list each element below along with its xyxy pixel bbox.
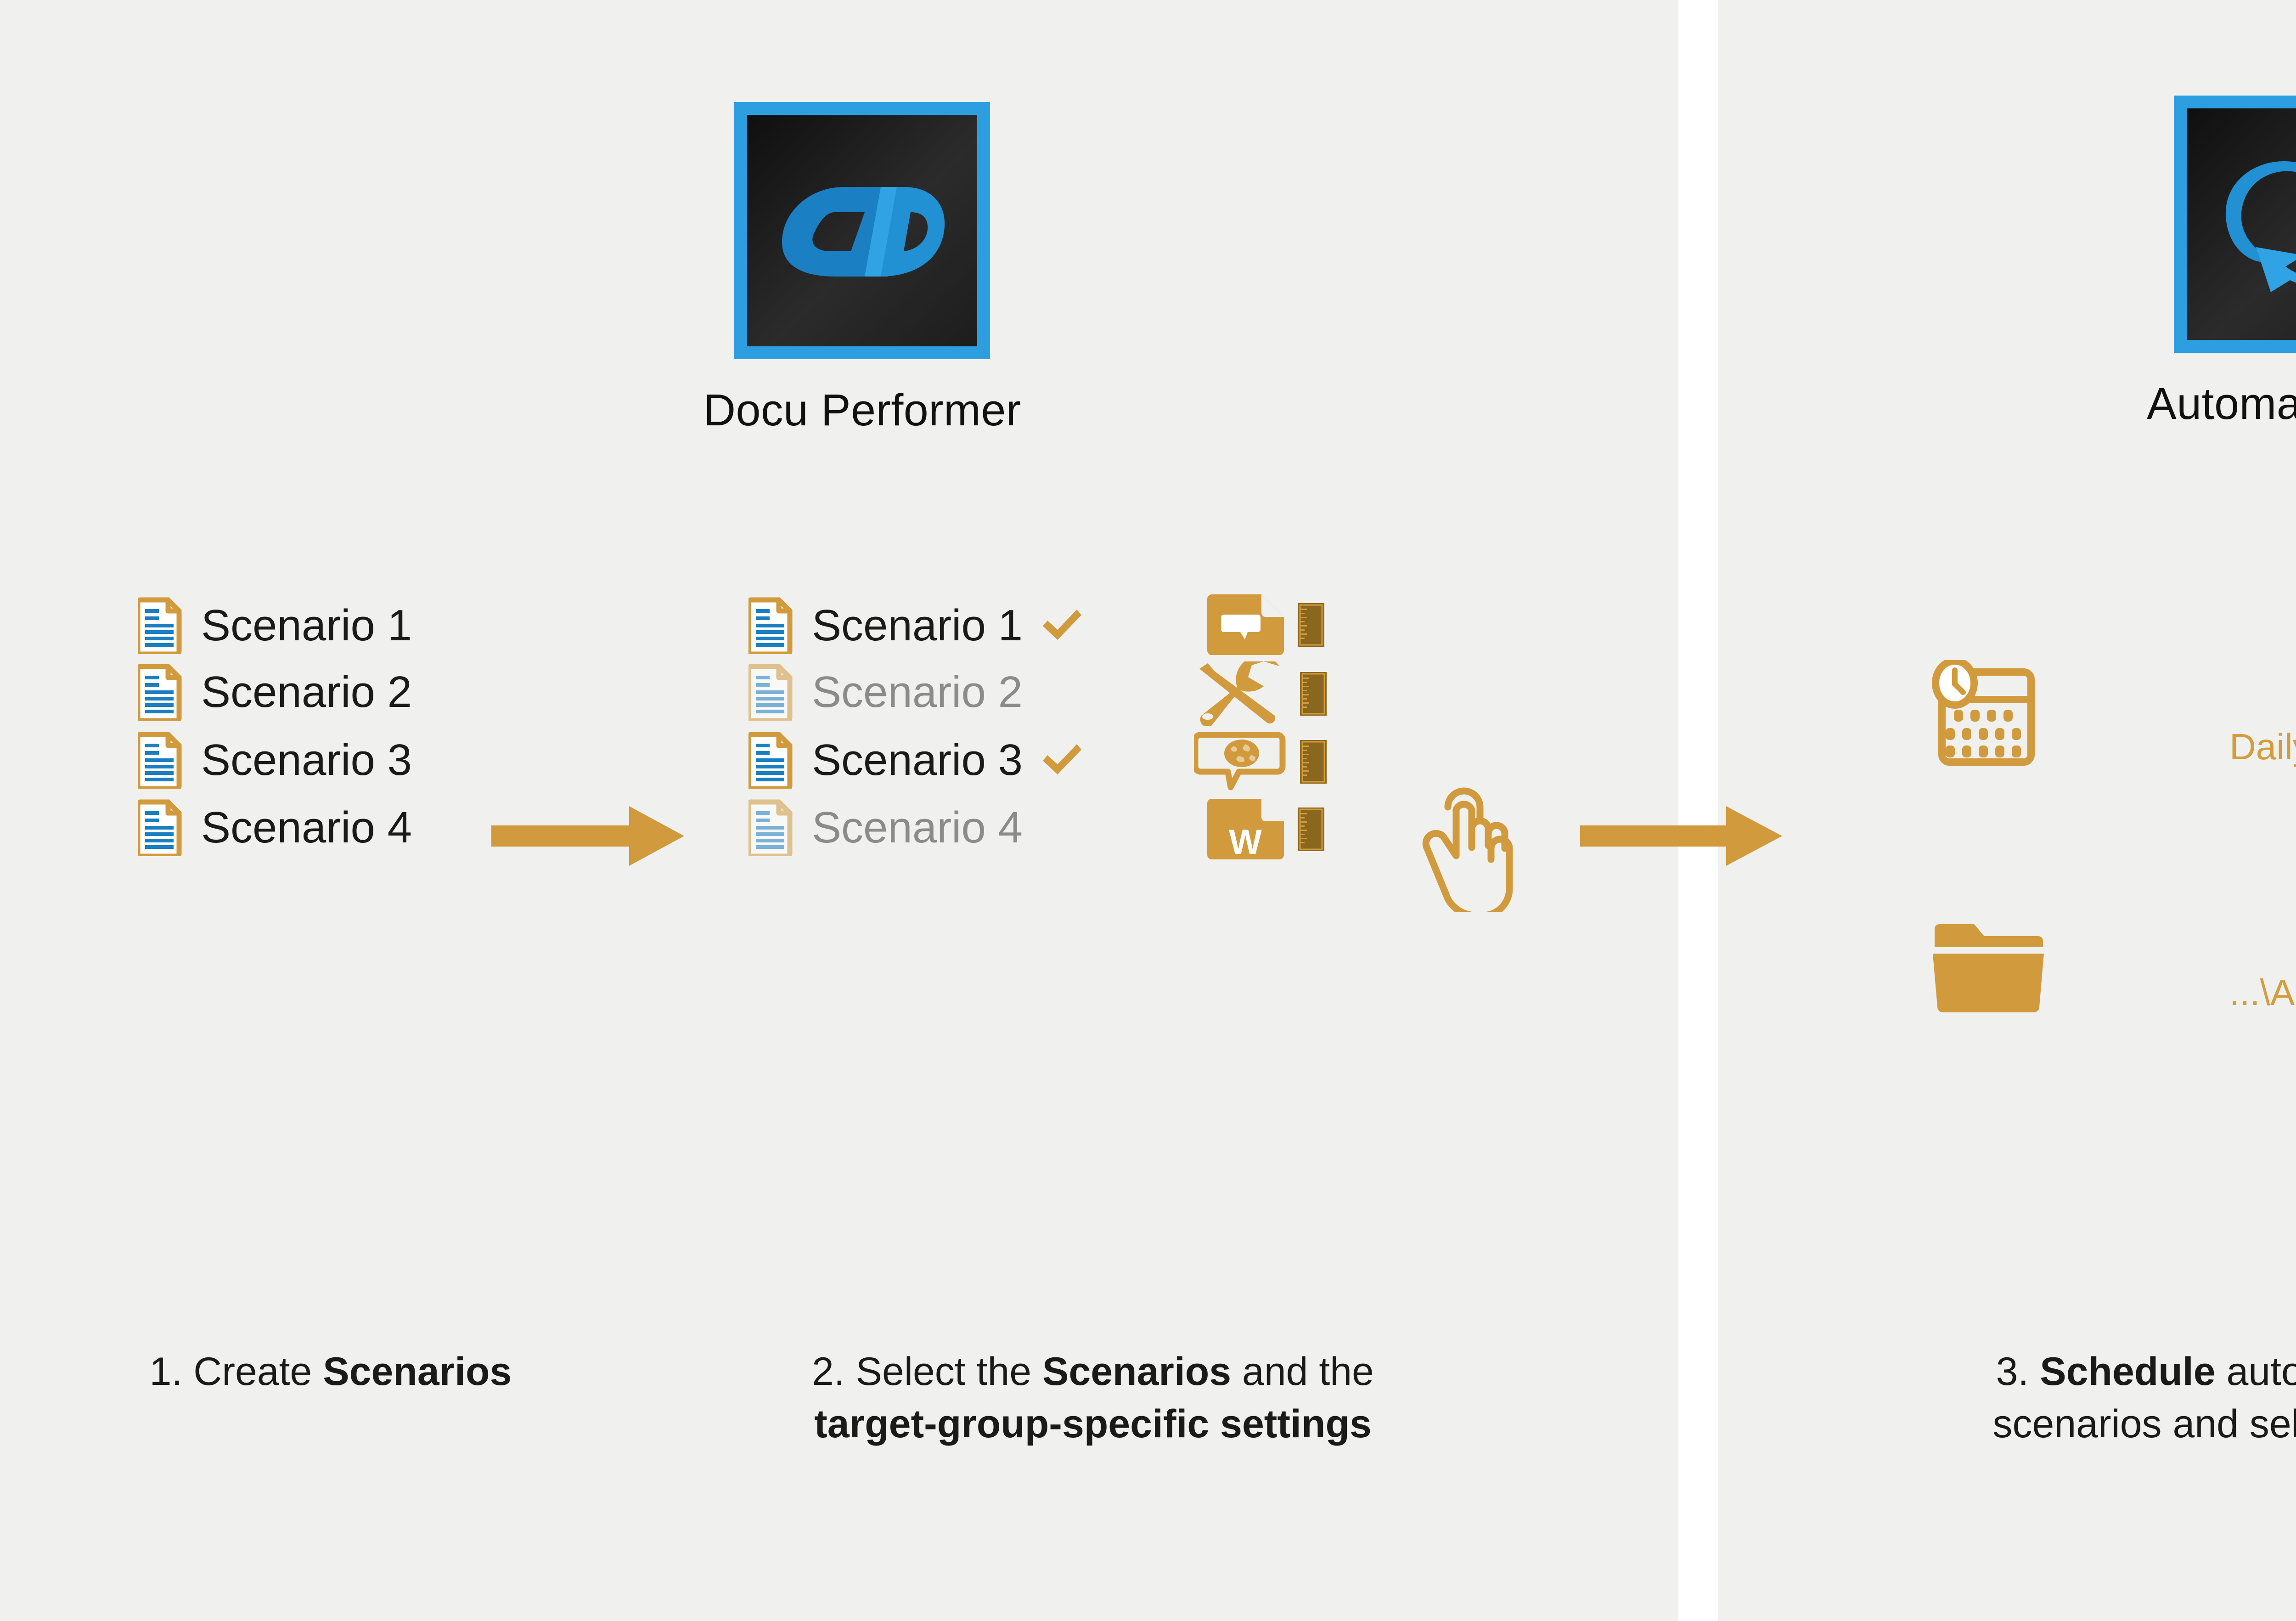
caption-2-prefix: 2. Select the	[812, 1350, 1042, 1394]
list-item[interactable]: Scenario 3	[138, 732, 412, 789]
document-comment-icon	[1205, 593, 1286, 657]
list-item[interactable]: Scenario 1	[748, 597, 1084, 654]
caption-3-prefix: 3.	[1996, 1350, 2040, 1394]
app-header-docu-performer: Docu Performer	[703, 102, 1021, 436]
tools-wrench-screwdriver-icon	[1194, 661, 1288, 726]
pointing-hand-click-icon[interactable]	[1420, 760, 1540, 912]
step-caption-3: 3. Schedule automated export of scenario…	[1864, 1346, 2296, 1450]
app-header-automationtool: AutomationTool	[2147, 96, 2296, 429]
word-document-icon: W	[1205, 797, 1286, 861]
file-path-value: ...\Automated Scenarios	[2229, 971, 2296, 1014]
globe-speech-bubble-icon	[1194, 729, 1288, 794]
document-icon	[138, 799, 182, 856]
caption-2-line2: target-group-specific settings	[814, 1402, 1372, 1446]
ruler-icon	[1300, 672, 1327, 716]
folder-icon	[1931, 919, 2046, 1015]
list-item[interactable]: Scenario 1	[138, 597, 412, 654]
caption-2-suffix: and the	[1231, 1350, 1374, 1394]
automation-sync-arrows-logo-icon	[2174, 96, 2296, 353]
ruler-icon	[1298, 808, 1324, 851]
list-item-label: Scenario 1	[812, 600, 1023, 651]
ruler-icon	[1298, 603, 1324, 647]
caption-3-line2-prefix: scenarios and select the	[1992, 1402, 2296, 1446]
list-item-label: Scenario 4	[201, 802, 412, 853]
diagram-canvas: Docu Performer Scenario 1 Scenario 2	[0, 0, 2296, 1621]
document-icon	[138, 732, 182, 789]
caption-3-suffix: automated export of	[2216, 1350, 2296, 1394]
calendar-clock-icon	[1931, 660, 2043, 770]
docu-performer-logo-icon	[734, 102, 990, 359]
checkmark-icon	[1040, 741, 1084, 779]
list-item-label: Scenario 1	[201, 600, 412, 651]
document-icon-muted	[748, 664, 793, 721]
list-item[interactable]: Scenario 4	[748, 799, 1023, 856]
settings-row[interactable]: W	[1205, 797, 1324, 861]
caption-2-emphasis: Scenarios	[1042, 1350, 1231, 1394]
caption-1-prefix: 1. Create	[150, 1350, 323, 1394]
sync-arrows-icon	[2210, 132, 2296, 316]
app-name-label: AutomationTool	[2147, 378, 2296, 429]
list-item[interactable]: Scenario 2	[748, 664, 1023, 721]
document-icon-muted	[748, 799, 793, 856]
list-item[interactable]: Scenario 4	[138, 799, 412, 856]
list-item-label: Scenario 3	[201, 735, 412, 785]
list-item[interactable]: Scenario 3	[748, 732, 1084, 789]
ruler-icon	[1300, 740, 1327, 784]
dp-monogram-icon	[766, 162, 959, 299]
document-icon	[748, 732, 793, 789]
list-item-label: Scenario 4	[812, 802, 1023, 853]
list-item-label: Scenario 2	[812, 667, 1023, 717]
arrow-select-to-schedule	[1580, 802, 1782, 870]
app-name-label: Docu Performer	[703, 384, 1021, 436]
settings-row[interactable]	[1194, 661, 1327, 726]
settings-row[interactable]	[1194, 729, 1327, 794]
caption-1-emphasis: Scenarios	[323, 1350, 512, 1394]
document-icon	[138, 597, 182, 654]
step-caption-1: 1. Create Scenarios	[73, 1346, 588, 1398]
document-icon	[138, 664, 182, 721]
schedule-value: Daily, 02:00 AM	[2229, 726, 2296, 768]
list-item-label: Scenario 2	[201, 667, 412, 717]
document-icon	[748, 597, 793, 654]
list-item[interactable]: Scenario 2	[138, 664, 412, 721]
list-item-label: Scenario 3	[812, 735, 1023, 785]
step-caption-2: 2. Select the Scenarios and the target-g…	[716, 1346, 1469, 1450]
word-letter-label: W	[1229, 823, 1262, 861]
arrow-create-to-select	[491, 802, 684, 870]
settings-row[interactable]	[1205, 593, 1324, 657]
checkmark-icon	[1040, 607, 1084, 644]
caption-3-emphasis: Schedule	[2040, 1350, 2215, 1394]
